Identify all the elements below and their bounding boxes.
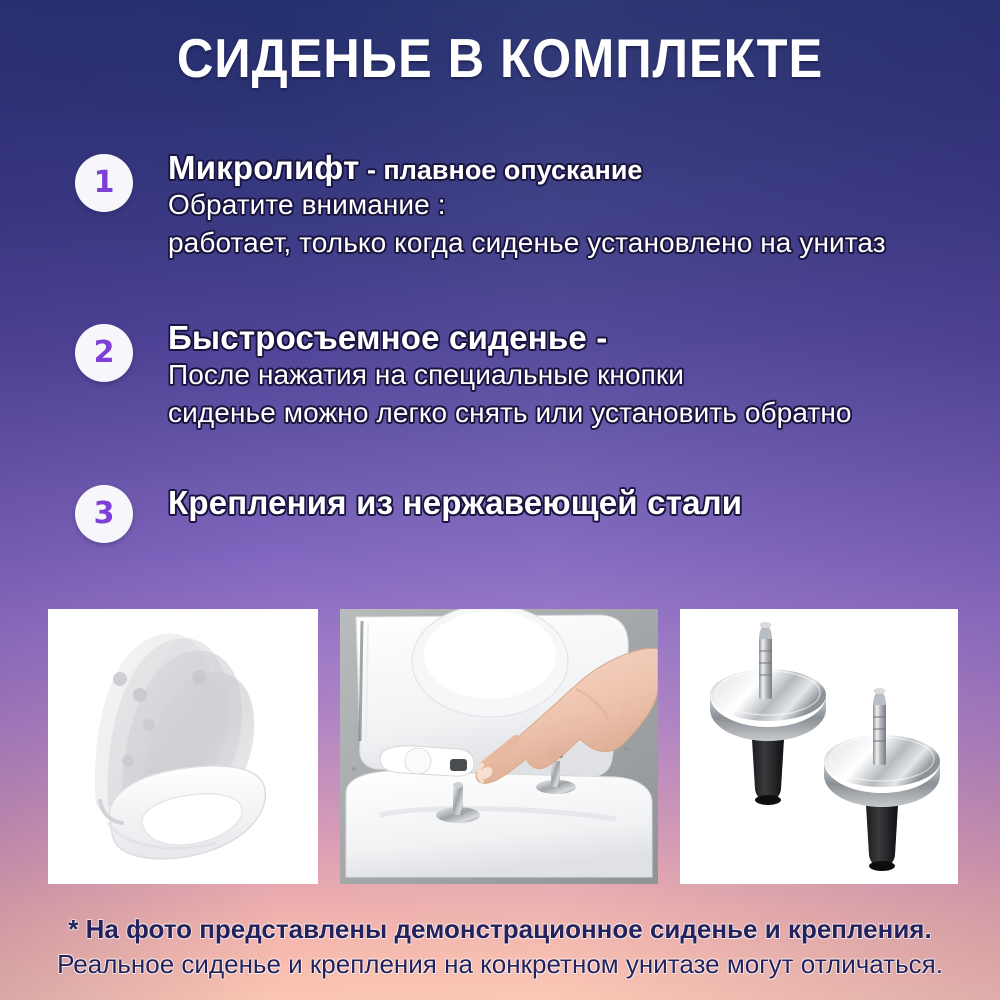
feature-subline-1-2: работает, только когда сиденье установле… (168, 224, 980, 262)
footer-disclaimer: * На фото представлены демонстрационное … (0, 912, 1000, 982)
feature-heading-1: Микролифт - плавное опускание (168, 150, 980, 186)
seat-fixings-illustration (680, 609, 958, 884)
feature-item-2: 2 Быстросъемное сиденье - После нажатия … (0, 320, 1000, 432)
feature-subline-2-1: После нажатия на специальные кнопки (168, 356, 980, 394)
footer-line-2: Реальное сиденье и крепления на конкретн… (0, 947, 1000, 982)
photo-toilet-seat-soft-close (48, 609, 318, 884)
photo-strip (48, 609, 958, 884)
feature-item-1: 1 Микролифт - плавное опускание Обратите… (0, 150, 1000, 262)
feature-heading-strong-2: Быстросъемное сиденье - (168, 319, 607, 356)
feature-heading-strong-1: Микролифт (168, 149, 359, 186)
feature-subline-1-1: Обратите внимание : (168, 186, 980, 224)
feature-heading-strong-3: Крепления из нержавеющей стали (168, 484, 742, 521)
feature-text-1: Микролифт - плавное опускание Обратите в… (168, 150, 1000, 262)
page-title: СИДЕНЬЕ В КОМПЛЕКТЕ (40, 26, 960, 90)
photo-stainless-steel-fixings (680, 609, 958, 884)
feature-number-badge-2: 2 (75, 324, 133, 382)
feature-number-badge-1: 1 (75, 154, 133, 212)
hand-pressing-button-illustration (340, 609, 658, 884)
feature-number-badge-3: 3 (75, 485, 133, 543)
feature-item-3: 3 Крепления из нержавеющей стали (0, 485, 1000, 521)
toilet-seat-motion-illustration (48, 609, 318, 884)
photo-hand-quick-release (340, 609, 658, 884)
feature-text-3: Крепления из нержавеющей стали (168, 485, 1000, 521)
feature-heading-2: Быстросъемное сиденье - (168, 320, 980, 356)
feature-subline-2-2: сиденье можно легко снять или установить… (168, 394, 980, 432)
infographic-page: СИДЕНЬЕ В КОМПЛЕКТЕ 1 Микролифт - плавно… (0, 0, 1000, 1000)
feature-text-2: Быстросъемное сиденье - После нажатия на… (168, 320, 1000, 432)
footer-line-1: * На фото представлены демонстрационное … (0, 912, 1000, 947)
feature-heading-rest-1: - плавное опускание (359, 155, 642, 185)
feature-heading-3: Крепления из нержавеющей стали (168, 485, 980, 521)
